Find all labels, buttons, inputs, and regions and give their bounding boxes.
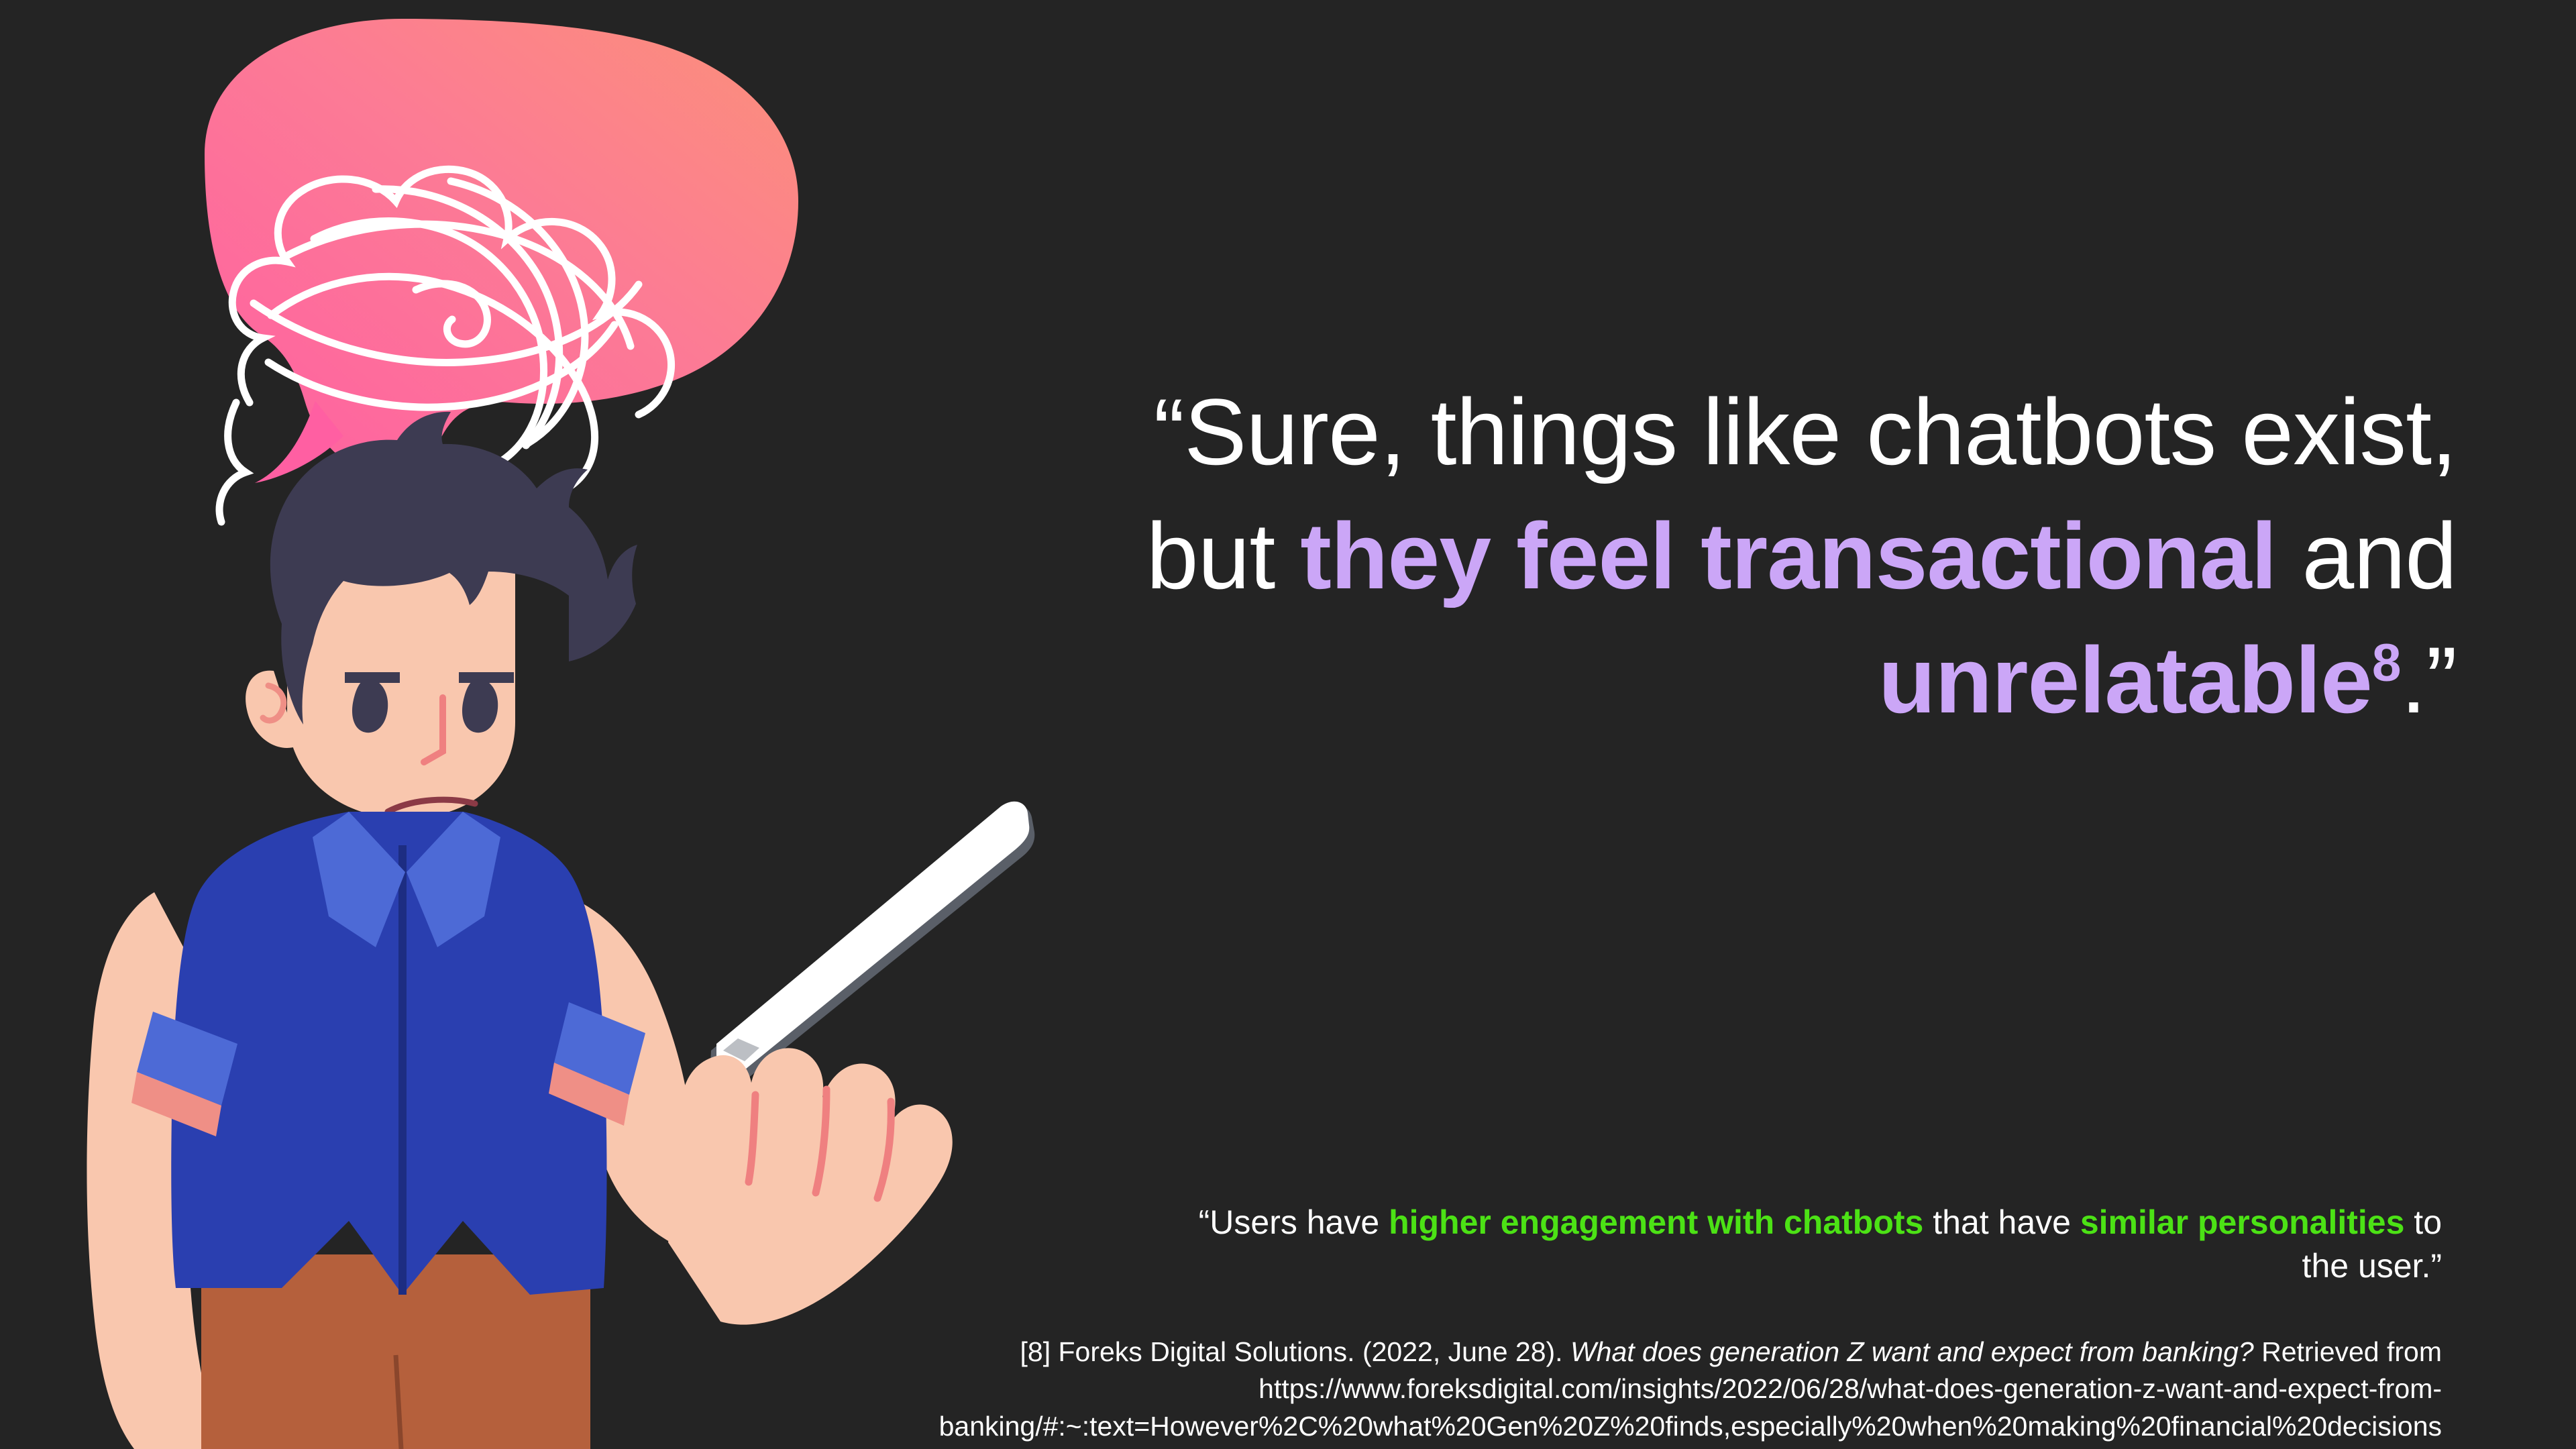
pull-quote: “Sure, things like chatbots exist, but t…	[1142, 370, 2457, 742]
sub-quote-open-quote: “	[1199, 1203, 1210, 1241]
citation-reference: [8] Foreks Digital Solutions. (2022, Jun…	[724, 1334, 2442, 1445]
sub-quote-green-personalities: similar personalities	[2080, 1203, 2405, 1241]
pull-quote-open-quote: “	[1154, 379, 1185, 484]
pull-quote-highlight-transactional: they feel transactional	[1300, 503, 2276, 608]
pull-quote-highlight-unrelatable: unrelatable	[1878, 627, 2372, 733]
citation-title: What does generation Z want and expect f…	[1570, 1336, 2254, 1367]
citation-marker: [8]	[1020, 1336, 1059, 1367]
secondary-quote: “Users have higher engagement with chatb…	[1194, 1201, 2442, 1288]
pull-quote-close-quote: .”	[2400, 627, 2457, 733]
illustration-area	[0, 0, 1046, 1449]
citation-author: Foreks Digital Solutions. (2022, June 28…	[1059, 1336, 1570, 1367]
pull-quote-footnote-marker: 8	[2372, 633, 2401, 692]
sub-quote-green-engagement: higher engagement with chatbots	[1389, 1203, 1923, 1241]
smartphone-icon	[710, 802, 1034, 1090]
sub-quote-part1: Users have	[1210, 1203, 1389, 1241]
pull-quote-part2: and	[2277, 503, 2457, 608]
character-illustration	[87, 412, 1034, 1449]
slide-root: “Sure, things like chatbots exist, but t…	[0, 0, 2576, 1449]
sub-quote-part2: that have	[1923, 1203, 2080, 1241]
